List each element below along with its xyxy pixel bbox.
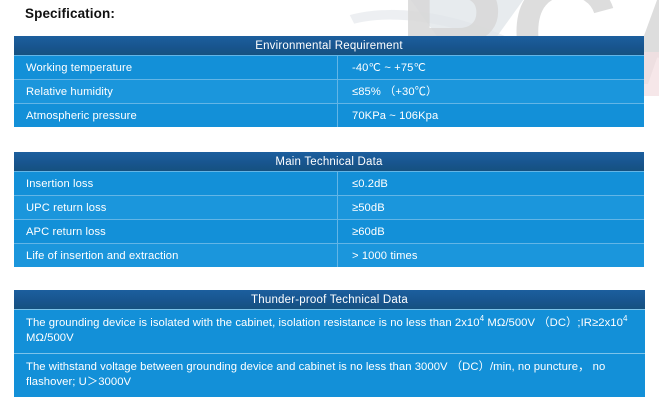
row-label-upc-return-loss: UPC return loss [14, 196, 337, 219]
row-value-working-temperature: -40℃ ~ +75℃ [337, 56, 644, 79]
row-value-upc-return-loss: ≥50dB [337, 196, 644, 219]
row-label-working-temperature: Working temperature [14, 56, 337, 79]
row-label-life-of-insertion: Life of insertion and extraction [14, 244, 337, 267]
row-label-apc-return-loss: APC return loss [14, 220, 337, 243]
table-row: UPC return loss ≥50dB [14, 195, 644, 219]
table-row: Relative humidity ≤85% （+30℃） [14, 79, 644, 103]
thunder-row-1-suffix-2: MΩ/500V [26, 332, 74, 344]
table-row: Atmospheric pressure 70KPa ~ 106Kpa [14, 103, 644, 127]
table-row: The withstand voltage between grounding … [14, 353, 645, 397]
table-row: The grounding device is isolated with th… [14, 309, 645, 353]
thunder-row-1-exponent-2: 4 [623, 314, 628, 323]
table-thunder-proof-technical-data: Thunder-proof Technical Data The groundi… [14, 290, 645, 397]
table-row: Working temperature -40℃ ~ +75℃ [14, 55, 644, 79]
table-row: Insertion loss ≤0.2dB [14, 171, 644, 195]
thunder-row-2-text: The withstand voltage between grounding … [26, 361, 605, 388]
row-value-atmospheric-pressure: 70KPa ~ 106Kpa [337, 104, 644, 127]
table-header-environmental: Environmental Requirement [14, 36, 644, 55]
row-value-apc-return-loss: ≥60dB [337, 220, 644, 243]
page-title: Specification: [25, 6, 115, 21]
table-environmental-requirement: Environmental Requirement Working temper… [14, 36, 644, 127]
specification-page: RCA W W W Specification: Environmental R… [0, 0, 659, 408]
row-value-insertion-loss: ≤0.2dB [337, 172, 644, 195]
table-header-main-technical: Main Technical Data [14, 152, 644, 171]
table-row: APC return loss ≥60dB [14, 219, 644, 243]
table-main-technical-data: Main Technical Data Insertion loss ≤0.2d… [14, 152, 644, 267]
table-header-thunder-proof: Thunder-proof Technical Data [14, 290, 645, 309]
row-label-relative-humidity: Relative humidity [14, 80, 337, 103]
thunder-row-1-prefix: The grounding device is isolated with th… [26, 317, 480, 329]
thunder-row-1-suffix: MΩ/500V （DC）;IR≥2x10 [484, 317, 623, 329]
row-label-atmospheric-pressure: Atmospheric pressure [14, 104, 337, 127]
table-row: Life of insertion and extraction > 1000 … [14, 243, 644, 267]
row-label-insertion-loss: Insertion loss [14, 172, 337, 195]
row-value-life-of-insertion: > 1000 times [337, 244, 644, 267]
row-value-relative-humidity: ≤85% （+30℃） [337, 80, 644, 103]
